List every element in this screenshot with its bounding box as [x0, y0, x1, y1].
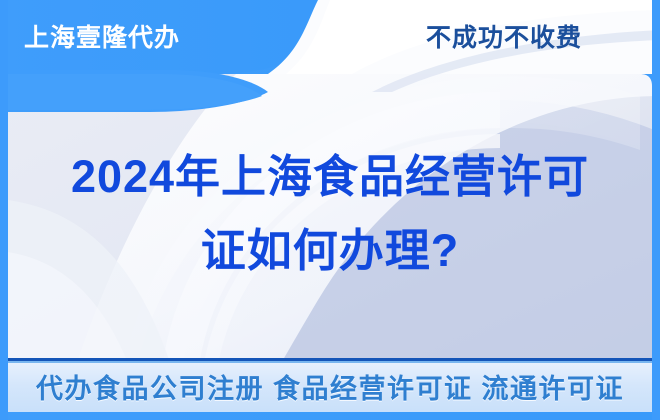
slogan-text: 不成功不收费 [426, 18, 582, 54]
keyword-bar-text: 代办食品公司注册 食品经营许可证 流通许可证 [36, 367, 624, 406]
brand-name: 上海壹隆代办 [24, 18, 180, 54]
headline-line-2: 证如何办理? [8, 214, 652, 288]
headline-block: 2024年上海食品经营许可 证如何办理? [8, 140, 652, 288]
background-artwork [0, 0, 660, 420]
banner-header: 上海壹隆代办 不成功不收费 [0, 0, 660, 74]
keyword-bar: 代办食品公司注册 食品经营许可证 流通许可证 [8, 358, 652, 412]
promo-banner: 上海壹隆代办 不成功不收费 2024年上海食品经营许可 证如何办理? 代办食品公… [0, 0, 660, 420]
headline-line-1: 2024年上海食品经营许可 [8, 140, 652, 214]
